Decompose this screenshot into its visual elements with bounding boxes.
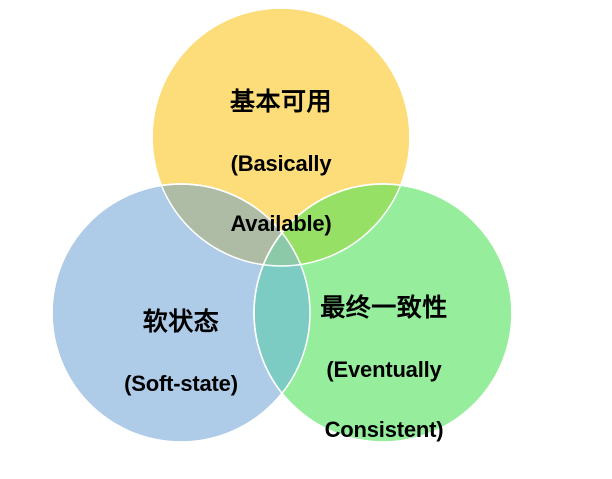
venn-circles-graphic <box>0 0 612 461</box>
venn-diagram: 基本可用 (Basically Available) 软状态 (Soft-sta… <box>0 0 612 461</box>
